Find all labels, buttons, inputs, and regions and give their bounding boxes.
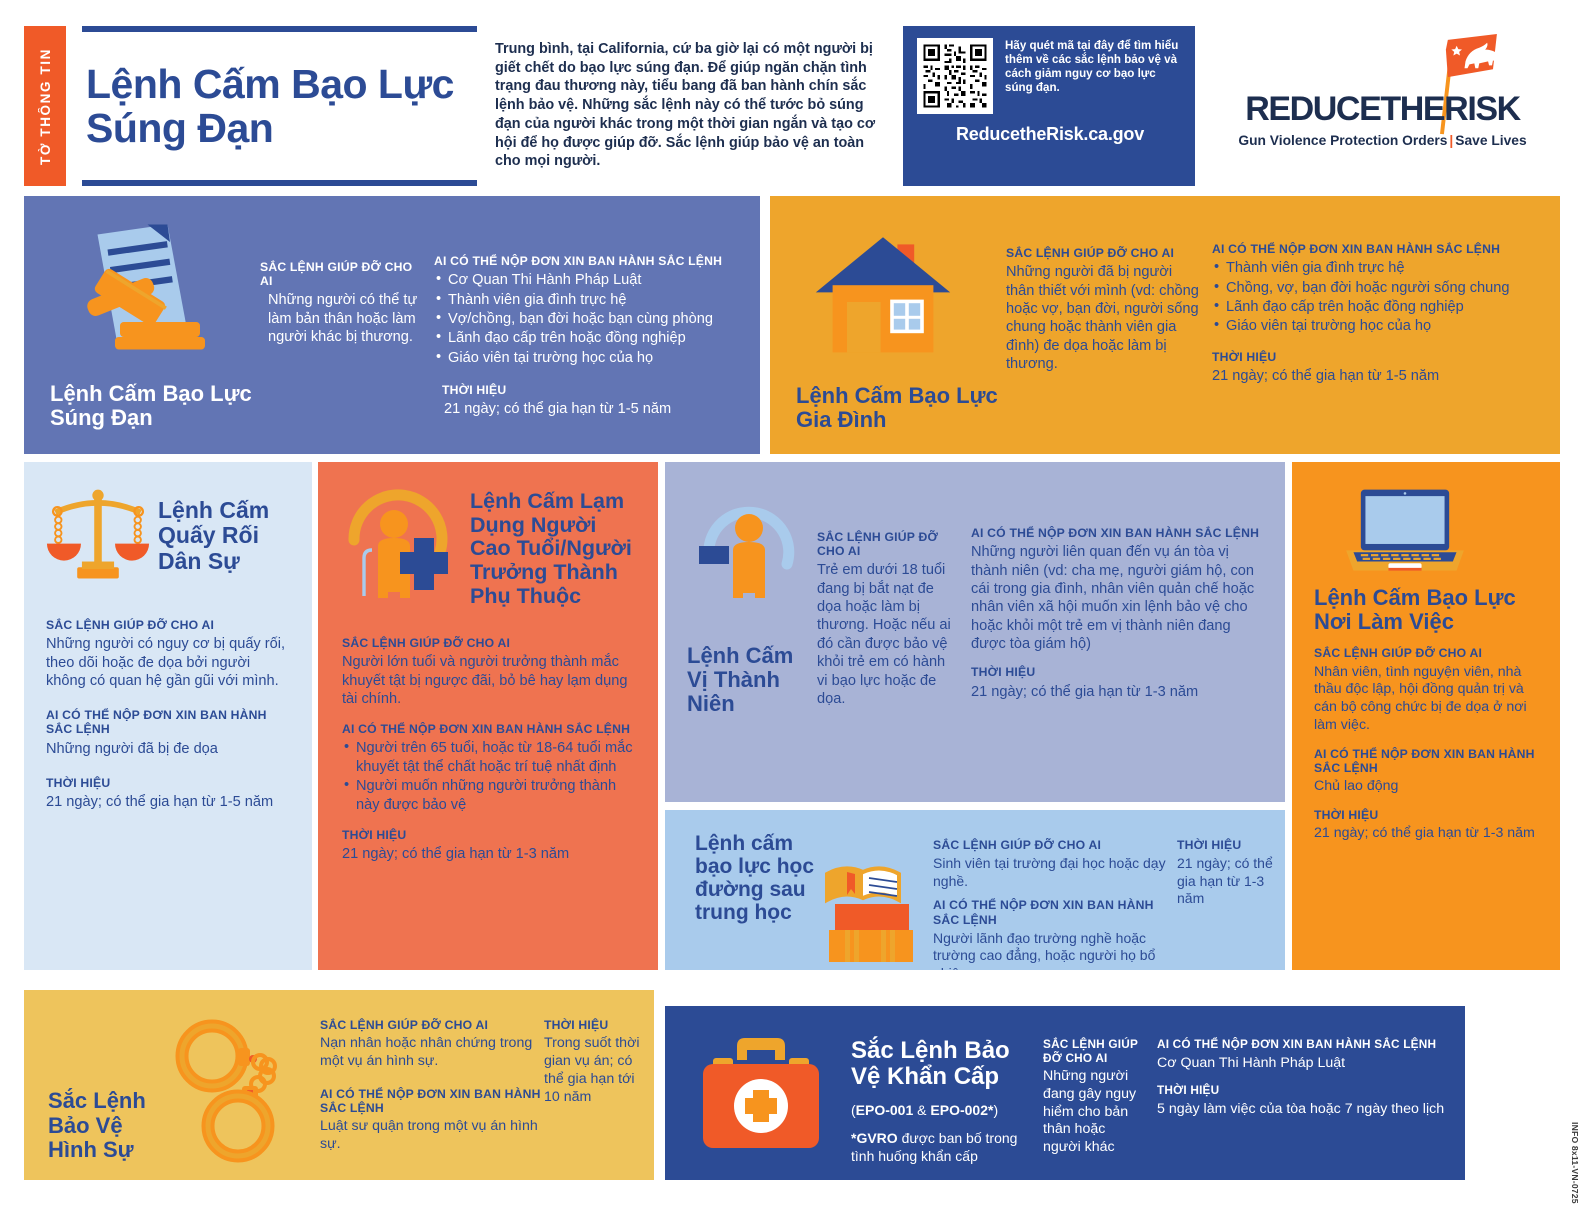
panel-elder-abuse-order: Lệnh Cấm Lạm Dụng Người Cao Tuổi/Người T… xyxy=(318,462,658,970)
elder-person-medical-icon xyxy=(342,484,462,614)
epo-form-1: EPO-001 xyxy=(856,1102,914,1118)
list-item: Vợ/chồng, bạn đời hoặc bạn cùng phòng xyxy=(434,310,750,328)
school-who-can-file-label: AI CÓ THỂ NỘP ĐƠN XIN BAN HÀNH SẮC LỆNH xyxy=(933,898,1177,926)
gvro-helps-who-label: SẮC LỆNH GIÚP ĐỠ CHO AI xyxy=(260,260,420,288)
qr-instructions: Hãy quét mã tại đây để tìm hiểu thêm về … xyxy=(1005,38,1183,114)
list-item: Người trên 65 tuổi, hoặc từ 18-64 tuổi m… xyxy=(342,739,636,776)
dvro-helps-who-label: SẮC LỆNH GIÚP ĐỠ CHO AI xyxy=(1006,246,1202,260)
juvenile-duration: 21 ngày; có thể gia hạn từ 1-3 năm xyxy=(971,683,1269,701)
panel-postsecondary-school-violence-order: Lệnh cấm bạo lực học đường sau trung học xyxy=(665,810,1285,970)
logo-word-the: THE xyxy=(1380,90,1444,128)
civil-who-can-file-label: AI CÓ THỂ NỘP ĐƠN XIN BAN HÀNH SẮC LỆNH xyxy=(46,708,290,736)
civil-duration-label: THỜI HIỆU xyxy=(46,776,290,790)
civil-who-can-file: Những người đã bị đe dọa xyxy=(46,740,290,758)
dvro-who-can-file-list: Thành viên gia đình trực hệ Chồng, vợ, b… xyxy=(1212,259,1546,336)
panel-juvenile-order: Lệnh Cấm Vị Thành Niên SẮC LỆNH GIÚP ĐỠ … xyxy=(665,462,1285,802)
criminal-duration-label: THỜI HIỆU xyxy=(544,1018,640,1032)
dvro-title: Lệnh Cấm Bạo Lực Gia Đình xyxy=(796,384,1006,432)
school-duration-label: THỜI HIỆU xyxy=(1177,838,1273,852)
list-item: Giáo viên tại trường học của họ xyxy=(434,349,750,367)
epo-duration-label: THỜI HIỆU xyxy=(1157,1084,1453,1098)
elder-title: Lệnh Cấm Lạm Dụng Người Cao Tuổi/Người T… xyxy=(470,490,636,614)
juvenile-helps-who-label: SẮC LỆNH GIÚP ĐỠ CHO AI xyxy=(817,530,957,558)
workplace-duration: 21 ngày; có thể gia hạn từ 1-3 năm xyxy=(1314,825,1542,843)
gvro-who-can-file-list: Cơ Quan Thi Hành Pháp Luật Thành viên gi… xyxy=(434,271,750,367)
epo-note: *GVRO được ban bố trong tình huống khẩn … xyxy=(851,1129,1021,1165)
elder-helps-who: Người lớn tuổi và người trưởng thành mắc… xyxy=(342,653,636,708)
list-item: Cơ Quan Thi Hành Pháp Luật xyxy=(434,271,750,289)
logo-word-reduce: REDUCE xyxy=(1245,90,1380,128)
reduce-the-risk-logo: REDUCETHERISK Gun Violence Protection Or… xyxy=(1195,26,1560,186)
handcuffs-icon xyxy=(168,1016,298,1166)
list-item: Chồng, vợ, bạn đời hoặc người sống chung xyxy=(1212,279,1546,297)
qr-panel: Hãy quét mã tại đây để tìm hiểu thêm về … xyxy=(903,26,1195,186)
epo-note-bold: GVRO xyxy=(856,1130,897,1146)
poster-header: TỜ THÔNG TIN Lệnh Cấm Bạo Lực Súng Đạn T… xyxy=(24,26,1560,186)
infographic-poster: TỜ THÔNG TIN Lệnh Cấm Bạo Lực Súng Đạn T… xyxy=(0,0,1584,1224)
gavel-document-icon xyxy=(70,212,220,362)
school-helps-who-label: SẮC LỆNH GIÚP ĐỠ CHO AI xyxy=(933,838,1177,852)
house-icon xyxy=(808,230,958,362)
list-item: Giáo viên tại trường học của họ xyxy=(1212,317,1546,335)
juvenile-who-can-file-label: AI CÓ THỂ NỘP ĐƠN XIN BAN HÀNH SẮC LỆNH xyxy=(971,526,1269,540)
child-person-icon xyxy=(691,488,807,608)
epo-form-2: EPO-002* xyxy=(930,1102,993,1118)
dvro-who-can-file-label: AI CÓ THỂ NỘP ĐƠN XIN BAN HÀNH SẮC LỆNH xyxy=(1212,242,1546,256)
epo-who-can-file: Cơ Quan Thi Hành Pháp Luật xyxy=(1157,1055,1453,1073)
panel-civil-harassment-order: Lệnh Cấm Quấy Rối Dân Sự SẮC LỆNH GIÚP Đ… xyxy=(24,462,312,970)
gvro-duration: 21 ngày; có thể gia hạn từ 1-5 năm xyxy=(442,400,750,418)
elder-who-can-file-list: Người trên 65 tuổi, hoặc từ 18-64 tuổi m… xyxy=(342,739,636,814)
laptop-icon xyxy=(1340,486,1470,578)
school-title: Lệnh cấm bạo lực học đường sau trung học xyxy=(695,832,823,924)
gvro-who-can-file-label: AI CÓ THỂ NỘP ĐƠN XIN BAN HÀNH SẮC LỆNH xyxy=(434,254,750,268)
civil-duration: 21 ngày; có thể gia hạn từ 1-5 năm xyxy=(46,793,290,811)
epo-form-numbers: (EPO-001 & EPO-002*) xyxy=(851,1101,1021,1119)
juvenile-who-can-file: Những người liên quan đến vụ án tòa vị t… xyxy=(971,543,1269,653)
gvro-title: Lệnh Cấm Bạo Lực Súng Đạn xyxy=(50,382,260,430)
epo-forms-suffix: ) xyxy=(993,1102,998,1118)
logo-word-risk: RISK xyxy=(1444,90,1520,128)
elder-duration: 21 ngày; có thể gia hạn từ 1-3 năm xyxy=(342,845,636,863)
epo-duration: 5 ngày làm việc của tòa hoặc 7 ngày theo… xyxy=(1157,1101,1453,1119)
epo-forms-amp: & xyxy=(913,1102,930,1118)
panel-domestic-violence-restraining-order: Lệnh Cấm Bạo Lực Gia Đình SẮC LỆNH GIÚP … xyxy=(770,196,1560,454)
website-url[interactable]: ReducetheRisk.ca.gov xyxy=(917,124,1183,145)
page-title: Lệnh Cấm Bạo Lực Súng Đạn xyxy=(86,62,477,151)
elder-helps-who-label: SẮC LỆNH GIÚP ĐỠ CHO AI xyxy=(342,636,636,650)
workplace-title: Lệnh Cấm Bạo Lực Nơi Làm Việc xyxy=(1314,586,1542,634)
juvenile-helps-who: Trẻ em dưới 18 tuổi đang bị bắt nạt đe d… xyxy=(817,561,957,708)
workplace-helps-who-label: SẮC LỆNH GIÚP ĐỠ CHO AI xyxy=(1314,646,1542,660)
workplace-helps-who: Nhân viên, tình nguyện viên, nhà thầu độ… xyxy=(1314,664,1542,736)
epo-helps-who-label: SẮC LỆNH GIÚP ĐỠ CHO AI xyxy=(1043,1038,1141,1065)
list-item: Thành viên gia đình trực hệ xyxy=(1212,259,1546,277)
epo-helps-who: Những người đang gây nguy hiểm cho bản t… xyxy=(1043,1068,1141,1156)
school-helps-who: Sinh viên tại trường đại học hoặc dạy ng… xyxy=(933,855,1177,890)
dvro-helps-who: Những người đã bị người thân thiết với m… xyxy=(1006,263,1202,373)
civil-helps-who-label: SẮC LỆNH GIÚP ĐỠ CHO AI xyxy=(46,618,290,632)
civil-helps-who: Những người có nguy cơ bị quấy rối, theo… xyxy=(46,635,290,690)
title-box: Lệnh Cấm Bạo Lực Súng Đạn xyxy=(82,26,477,186)
footer-document-code: INFO 8x11-VN-0725 xyxy=(1570,1122,1580,1204)
panel-gun-violence-restraining-order: Lệnh Cấm Bạo Lực Súng Đạn SẮC LỆNH GIÚP … xyxy=(24,196,760,454)
list-item: Người muốn những người trưởng thành này … xyxy=(342,777,636,814)
list-item: Lãnh đạo cấp trên hoặc đồng nghiệp xyxy=(1212,298,1546,316)
criminal-helps-who: Nạn nhân hoặc nhân chứng trong một vụ án… xyxy=(320,1035,544,1071)
workplace-duration-label: THỜI HIỆU xyxy=(1314,808,1542,822)
intro-paragraph: Trung bình, tại California, cứ ba giờ lạ… xyxy=(477,26,897,186)
workplace-who-can-file: Chủ lao động xyxy=(1314,778,1542,796)
epo-title: Sắc Lệnh Bảo Vệ Khẩn Cấp xyxy=(851,1038,1021,1091)
panel-workplace-violence-order: Lệnh Cấm Bạo Lực Nơi Làm Việc SẮC LỆNH G… xyxy=(1292,462,1560,970)
elder-who-can-file-label: AI CÓ THỂ NỘP ĐƠN XIN BAN HÀNH SẮC LỆNH xyxy=(342,722,636,736)
school-duration: 21 ngày; có thể gia hạn từ 1-3 năm xyxy=(1177,855,1273,908)
criminal-duration: Trong suốt thời gian vụ án; có thể gia h… xyxy=(544,1035,640,1107)
epo-who-can-file-label: AI CÓ THỂ NỘP ĐƠN XIN BAN HÀNH SẮC LỆNH xyxy=(1157,1038,1453,1052)
dvro-duration-label: THỜI HIỆU xyxy=(1212,350,1546,364)
side-tab: TỜ THÔNG TIN xyxy=(24,26,66,186)
side-tab-label: TỜ THÔNG TIN xyxy=(38,48,53,165)
first-aid-kit-icon xyxy=(691,1036,831,1154)
qr-code-icon[interactable] xyxy=(917,38,993,114)
criminal-helps-who-label: SẮC LỆNH GIÚP ĐỠ CHO AI xyxy=(320,1018,544,1032)
juvenile-duration-label: THỜI HIỆU xyxy=(971,665,1269,679)
criminal-who-can-file: Luật sư quận trong một vụ án hình sự. xyxy=(320,1118,544,1154)
workplace-who-can-file-label: AI CÓ THỂ NỘP ĐƠN XIN BAN HÀNH SẮC LỆNH xyxy=(1314,747,1542,775)
elder-duration-label: THỜI HIỆU xyxy=(342,828,636,842)
logo-wordmark: REDUCETHERISK xyxy=(1245,90,1520,129)
gvro-helps-who: Những người có thể tự làm bản thân hoặc … xyxy=(260,291,420,346)
stacked-books-icon xyxy=(821,860,917,968)
panel-criminal-protective-order: Sắc Lệnh Bảo Vệ Hình Sự SẮC LỆNH GIÚP ĐỠ xyxy=(24,990,654,1180)
scales-of-justice-icon xyxy=(46,480,150,592)
list-item: Lãnh đạo cấp trên hoặc đồng nghiệp xyxy=(434,329,750,347)
gvro-duration-label: THỜI HIỆU xyxy=(442,383,750,397)
civil-title: Lệnh Cấm Quấy Rối Dân Sự xyxy=(158,498,290,574)
dvro-duration: 21 ngày; có thể gia hạn từ 1-5 năm xyxy=(1212,367,1546,385)
criminal-title: Sắc Lệnh Bảo Vệ Hình Sự xyxy=(48,1089,168,1162)
panel-emergency-protective-order: Sắc Lệnh Bảo Vệ Khẩn Cấp (EPO-001 & EPO-… xyxy=(665,1006,1465,1180)
school-who-can-file: Người lãnh đạo trường nghề hoặc trường c… xyxy=(933,930,1177,970)
criminal-who-can-file-label: AI CÓ THỂ NỘP ĐƠN XIN BAN HÀNH SẮC LỆNH xyxy=(320,1087,544,1115)
juvenile-title: Lệnh Cấm Vị Thành Niên xyxy=(687,644,817,717)
list-item: Thành viên gia đình trực hệ xyxy=(434,291,750,309)
